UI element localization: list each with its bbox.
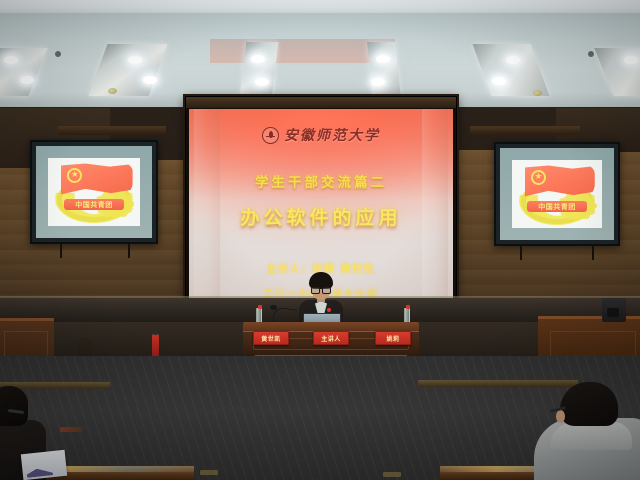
ceiling-downlight xyxy=(108,88,117,94)
ceiling-light-bulb xyxy=(143,76,157,84)
emblem-band-text: 中国共青团 xyxy=(64,199,125,211)
ceiling-light-bulb xyxy=(506,56,520,64)
floor-marker-tape xyxy=(60,427,82,432)
ceiling-light-bulb xyxy=(371,78,385,86)
screen-top-frame xyxy=(186,97,456,108)
beam-left xyxy=(58,126,166,135)
ceiling-sensor-dot xyxy=(55,51,61,57)
lecture-hall-scene: ★ 中国共青团 ★ 中国共青团 xyxy=(0,0,640,480)
audience-member-right xyxy=(528,382,640,480)
screen-mount-cable xyxy=(592,246,594,260)
glasses-icon xyxy=(311,287,331,292)
beam-right xyxy=(470,126,580,135)
fire-extinguisher xyxy=(152,334,159,356)
side-screen-left: ★ 中国共青团 xyxy=(30,140,158,244)
ceiling-light-bulb xyxy=(492,77,506,85)
ceiling-light-bulb xyxy=(376,55,390,63)
ceiling-light-panel-3 xyxy=(240,42,279,98)
side-screen-canvas: ★ 中国共青团 xyxy=(48,158,140,226)
audience-right-head xyxy=(560,382,618,426)
ceiling-light-bulb xyxy=(128,56,142,64)
side-screen-mat: ★ 中国共青团 xyxy=(36,146,152,238)
audience-paper xyxy=(21,450,67,480)
ceiling-downlight xyxy=(533,90,542,96)
presenter-badge xyxy=(327,308,331,312)
screen-mount-cable xyxy=(128,244,130,258)
ceiling-light-bulb xyxy=(4,56,18,64)
audience-left-head xyxy=(0,386,28,426)
ceiling-light-bulb xyxy=(251,55,265,63)
nameplate: 姚莉 xyxy=(375,331,411,345)
audience-right-ear xyxy=(556,410,565,423)
ceiling-light-bulb xyxy=(20,76,34,84)
loudspeaker xyxy=(602,298,626,322)
communist-youth-league-emblem: ★ 中国共青团 xyxy=(48,158,140,226)
nameplate: 黄世凯 xyxy=(253,331,289,345)
ceiling-light-bulb xyxy=(624,56,638,64)
side-screen-right: ★ 中国共青团 xyxy=(494,142,620,246)
screen-mount-cable xyxy=(520,246,522,260)
hoodie-hood xyxy=(550,422,632,450)
ceiling-sensor-dot xyxy=(588,51,594,57)
head-table-top xyxy=(243,322,419,331)
side-screen-canvas: ★ 中国共青团 xyxy=(512,160,602,228)
ceiling-light-bulb xyxy=(255,78,269,86)
ceiling-upper-strip xyxy=(0,0,640,13)
mic-head-icon xyxy=(270,305,277,310)
screen-mount-cable xyxy=(60,244,62,258)
nameplate: 主讲人 xyxy=(313,331,349,345)
floor-outlet-plate xyxy=(383,472,401,477)
floor-outlet-plate xyxy=(200,470,218,475)
star-icon: ★ xyxy=(531,170,546,185)
ceiling-light-panel-4 xyxy=(367,42,401,98)
communist-youth-league-emblem: ★ 中国共青团 xyxy=(512,160,602,228)
side-screen-mat: ★ 中国共青团 xyxy=(500,148,614,240)
emblem-band-text: 中国共青团 xyxy=(527,201,586,213)
